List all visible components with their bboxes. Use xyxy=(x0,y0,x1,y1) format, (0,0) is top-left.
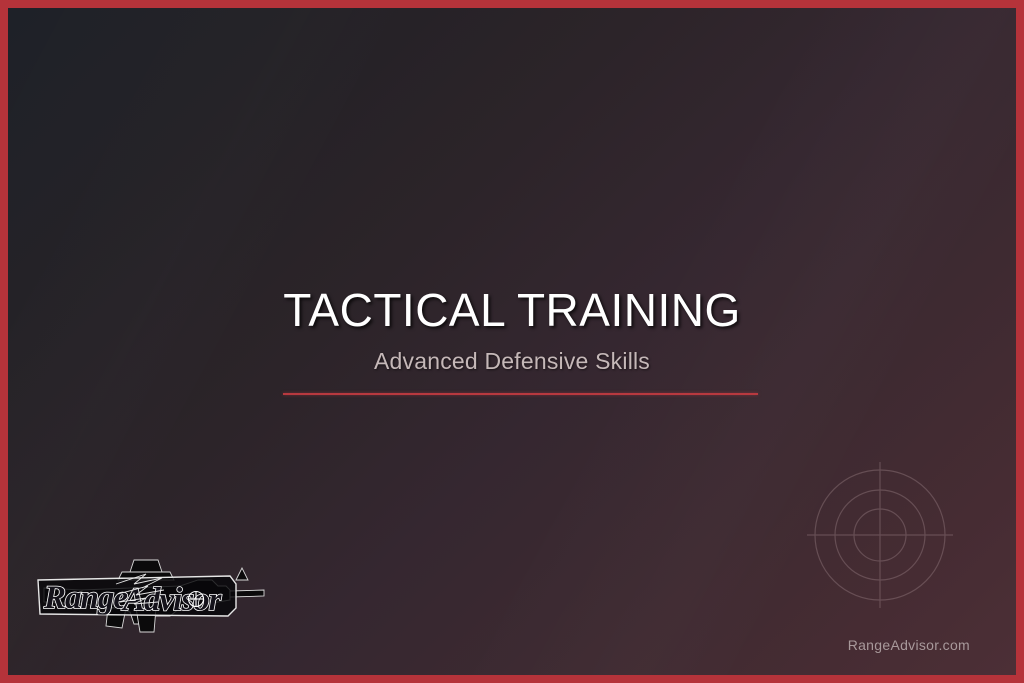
logo-scope-reticle-icon xyxy=(189,592,204,607)
page-title: TACTICAL TRAINING xyxy=(8,286,1016,334)
logo-wordmark-advisor: Advisor xyxy=(121,582,223,618)
page-subtitle: Advanced Defensive Skills xyxy=(8,348,1016,375)
logo-wordmark-range: Range xyxy=(43,580,127,616)
footer-url: RangeAdvisor.com xyxy=(848,637,970,653)
crosshair-target-icon xyxy=(805,460,955,610)
title-block: TACTICAL TRAINING Advanced Defensive Ski… xyxy=(8,286,1016,375)
rangeadvisor-logo: Range Advisor xyxy=(30,550,275,640)
presentation-slide: TACTICAL TRAINING Advanced Defensive Ski… xyxy=(0,0,1024,683)
accent-divider xyxy=(283,393,758,395)
